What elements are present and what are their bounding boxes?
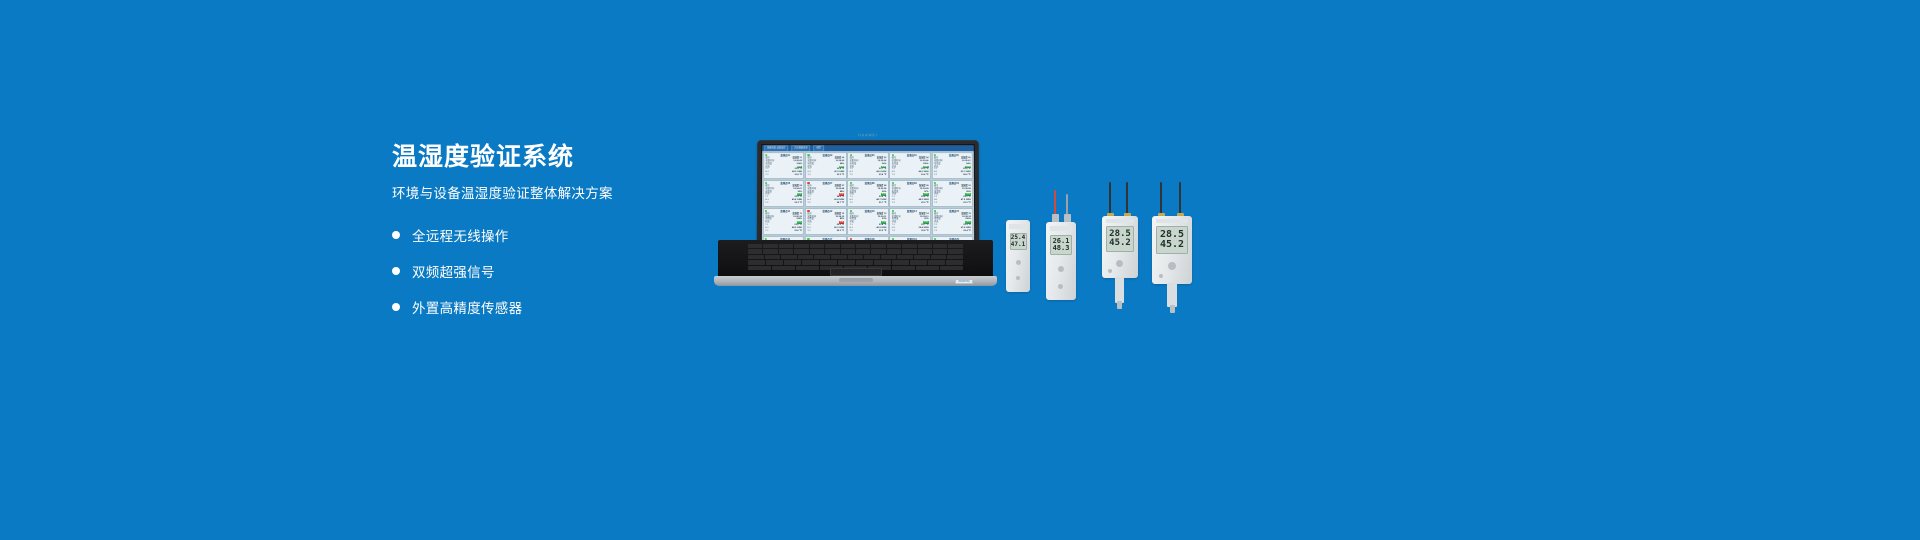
sensor-card-row: T-223.5 ℃ bbox=[807, 174, 844, 177]
device-sensor-probe bbox=[1115, 277, 1124, 303]
laptop-brand-label: HUAWEI bbox=[858, 133, 877, 137]
laptop-trackpad[interactable] bbox=[830, 268, 882, 276]
sensor-card[interactable]: 监测点13编号温湿度 13采集时间12:30:11电池量93%状态正常T-123… bbox=[847, 208, 889, 235]
sensor-card-row: T-223.2 ℃ bbox=[934, 202, 971, 205]
sensor-field-value: 23.8 ℃ bbox=[921, 230, 929, 233]
keyboard-key[interactable] bbox=[948, 244, 962, 248]
sensor-field-value: 29.3 ℃ bbox=[837, 230, 845, 233]
feature-bullet-label: 全远程无线操作 bbox=[412, 225, 509, 245]
lcd-line-humidity: 45.2 bbox=[1109, 239, 1131, 248]
keyboard-key[interactable] bbox=[933, 249, 947, 253]
sensor-field-label: T-2 bbox=[892, 202, 895, 205]
keyboard-key[interactable] bbox=[881, 255, 897, 259]
keyboard-key[interactable] bbox=[810, 249, 824, 253]
sensor-card[interactable]: 监测点06编号温湿度 06采集时间12:30:07电池量92%状态正常T-123… bbox=[763, 180, 805, 207]
keyboard-key[interactable] bbox=[841, 244, 855, 248]
keyboard-key[interactable] bbox=[825, 249, 839, 253]
device-button[interactable] bbox=[1168, 262, 1176, 270]
device-antenna-2 bbox=[1179, 182, 1181, 216]
device-logger-small: 25.4 47.1 bbox=[1006, 220, 1030, 292]
sensor-card-row: T-223.5 ℃ bbox=[850, 230, 887, 233]
device-button-secondary[interactable] bbox=[1058, 284, 1063, 289]
sensor-field-label: T-2 bbox=[807, 230, 810, 233]
keyboard-row bbox=[748, 249, 963, 253]
keyboard-key[interactable] bbox=[892, 266, 915, 270]
keyboard-key[interactable] bbox=[763, 249, 777, 253]
bullet-dot-icon bbox=[392, 231, 400, 239]
sensor-card-row: T-223.4 ℃ bbox=[892, 174, 929, 177]
bullet-dot-icon bbox=[392, 267, 400, 275]
feature-bullet: 双频超强信号 bbox=[392, 259, 722, 284]
keyboard-key[interactable] bbox=[748, 266, 771, 270]
sensor-card[interactable]: 监测点09编号温湿度 09采集时间12:30:09电池量97%状态正常T-123… bbox=[889, 180, 931, 207]
keyboard-key[interactable] bbox=[779, 244, 793, 248]
feature-bullet-label: 双频超强信号 bbox=[412, 261, 495, 281]
device-antenna bbox=[1109, 182, 1111, 216]
sensor-field-label: T-2 bbox=[892, 174, 895, 177]
keyboard-key[interactable] bbox=[748, 255, 764, 259]
sensor-card[interactable]: 监测点03编号温湿度 03采集时间12:30:06电池量96%状态正常T-123… bbox=[847, 152, 889, 179]
keyboard-key[interactable] bbox=[784, 260, 801, 264]
lcd-line-humidity: 47.1 bbox=[1011, 242, 1025, 248]
keyboard-key[interactable] bbox=[892, 260, 909, 264]
sensor-field-value: 23.3 ℃ bbox=[794, 202, 802, 205]
keyboard-key[interactable] bbox=[748, 244, 762, 248]
sensor-card[interactable]: 监测点02编号温湿度 02采集时间12:30:05电池量98%状态正常T-123… bbox=[805, 152, 847, 179]
keyboard-key[interactable] bbox=[902, 244, 916, 248]
keyboard-row bbox=[748, 244, 963, 248]
keyboard-row bbox=[748, 260, 963, 264]
keyboard-key[interactable] bbox=[871, 244, 885, 248]
sensor-field-label: T-2 bbox=[765, 202, 768, 205]
device-antenna-2 bbox=[1126, 182, 1128, 216]
sensor-field-value: 28.7 ℃ bbox=[837, 202, 845, 205]
feature-bullet: 全远程无线操作 bbox=[392, 223, 722, 248]
keyboard-key[interactable] bbox=[748, 249, 762, 253]
sensor-field-value: 23.8 ℃ bbox=[879, 174, 887, 177]
keyboard-key[interactable] bbox=[772, 266, 795, 270]
page-subtitle: 环境与设备温湿度验证整体解决方案 bbox=[392, 185, 722, 204]
device-label-strip bbox=[1050, 226, 1072, 231]
keyboard-key[interactable] bbox=[779, 249, 793, 253]
keyboard-key[interactable] bbox=[928, 260, 945, 264]
sensor-field-value: 24.0 ℃ bbox=[963, 174, 971, 177]
keyboard-key[interactable] bbox=[796, 266, 819, 270]
keyboard-key[interactable] bbox=[841, 249, 855, 253]
keyboard-key[interactable] bbox=[910, 260, 927, 264]
sensor-field-value: 23.5 ℃ bbox=[879, 230, 887, 233]
sensor-card-grid: 监测点01编号温湿度 01采集时间12:30:05电池量100%状态正常T-12… bbox=[762, 151, 975, 251]
device-sensor-probe bbox=[1167, 283, 1177, 307]
device-lcd-display: 25.4 47.1 bbox=[1010, 233, 1027, 250]
keyboard-key[interactable] bbox=[887, 244, 901, 248]
device-handheld-right-wrap: 28.5 45.2 bbox=[1152, 180, 1196, 320]
sensor-field-label: T-2 bbox=[892, 230, 895, 233]
keyboard-key[interactable] bbox=[820, 260, 837, 264]
keyboard-key[interactable] bbox=[856, 260, 873, 264]
laptop-deck-notch bbox=[839, 278, 873, 282]
sensor-field-label: T-2 bbox=[850, 230, 853, 233]
keyboard-key[interactable] bbox=[916, 266, 939, 270]
keyboard-key[interactable] bbox=[798, 255, 814, 259]
feature-bullet-list: 全远程无线操作双频超强信号外置高精度传感器 bbox=[392, 223, 722, 320]
sensor-field-value: 23.4 ℃ bbox=[921, 174, 929, 177]
sensor-field-label: T-2 bbox=[807, 202, 810, 205]
keyboard-key[interactable] bbox=[902, 249, 916, 253]
keyboard-key[interactable] bbox=[948, 249, 962, 253]
keyboard-key[interactable] bbox=[856, 244, 870, 248]
keyboard-key[interactable] bbox=[856, 249, 870, 253]
keyboard-key[interactable] bbox=[766, 260, 783, 264]
laptop-deck-front: PANTUM bbox=[714, 276, 997, 286]
sensor-card-row: T-223.3 ℃ bbox=[765, 202, 802, 205]
device-button[interactable] bbox=[1016, 260, 1021, 265]
sensor-card[interactable]: 监测点15编号温湿度 15采集时间12:30:12电池量100%状态正常T-12… bbox=[932, 208, 974, 235]
keyboard-key[interactable] bbox=[765, 255, 781, 259]
device-button-secondary[interactable] bbox=[1108, 269, 1112, 273]
keyboard-key[interactable] bbox=[933, 244, 947, 248]
keyboard-key[interactable] bbox=[794, 244, 808, 248]
sensor-card[interactable]: 监测点11编号温湿度 11采集时间12:30:10电池量100%状态正常T-12… bbox=[763, 208, 805, 235]
sensor-card[interactable]: 监测点12编号温湿度 12采集时间12:30:10电池量85%状态报警T-129… bbox=[805, 208, 847, 235]
sensor-field-label: T-2 bbox=[765, 230, 768, 233]
sensor-field-label: T-2 bbox=[850, 202, 853, 205]
lcd-line-humidity: 48.3 bbox=[1053, 245, 1070, 252]
keyboard-key[interactable] bbox=[864, 255, 880, 259]
sensor-field-label: T-2 bbox=[765, 174, 768, 177]
keyboard-key[interactable] bbox=[781, 255, 797, 259]
keyboard-row bbox=[748, 255, 963, 259]
sensor-field-label: T-2 bbox=[934, 202, 937, 205]
keyboard-key[interactable] bbox=[931, 255, 947, 259]
sensor-card[interactable]: 监测点07编号温湿度 07采集时间12:30:08电池量88%状态报警T-128… bbox=[805, 180, 847, 207]
device-button[interactable] bbox=[1058, 266, 1064, 272]
sensor-card-row: T-223.8 ℃ bbox=[850, 174, 887, 177]
sensor-card-row: T-224.0 ℃ bbox=[934, 174, 971, 177]
device-label-strip bbox=[1009, 224, 1027, 229]
keyboard-key[interactable] bbox=[946, 260, 963, 264]
keyboard-key[interactable] bbox=[748, 260, 765, 264]
keyboard-key[interactable] bbox=[940, 266, 963, 270]
device-probe-cable bbox=[1054, 190, 1056, 216]
keyboard-key[interactable] bbox=[897, 255, 913, 259]
device-group: 25.4 47.1 26.1 48.3 bbox=[1000, 180, 1230, 320]
sensor-card[interactable]: 监测点05编号温湿度 05采集时间12:30:07电池量94%状态正常T-123… bbox=[931, 152, 973, 179]
device-button[interactable] bbox=[1116, 260, 1123, 267]
keyboard-key[interactable] bbox=[918, 249, 932, 253]
laptop-screen: 数据采集·设备监控历史数据查询报警 监测点01编号温湿度 01采集时间12:30… bbox=[761, 144, 976, 251]
device-label-strip bbox=[1106, 219, 1134, 223]
laptop-base bbox=[718, 240, 993, 278]
device-logger-probe-wrap: 26.1 48.3 bbox=[1046, 190, 1084, 300]
sensor-card-row: T-223.6 ℃ bbox=[765, 230, 802, 233]
sensor-field-value: 23.5 ℃ bbox=[837, 174, 845, 177]
keyboard-key[interactable] bbox=[871, 249, 885, 253]
keyboard-key[interactable] bbox=[763, 244, 777, 248]
sensor-field-value: 23.6 ℃ bbox=[794, 230, 802, 233]
sensor-card-row: T-223.8 ℃ bbox=[892, 230, 929, 233]
bullet-dot-icon bbox=[392, 303, 400, 311]
keyboard-key[interactable] bbox=[810, 244, 824, 248]
page-title: 温湿度验证系统 bbox=[392, 142, 722, 172]
device-handheld-right: 28.5 45.2 bbox=[1152, 216, 1192, 284]
feature-bullet: 外置高精度传感器 bbox=[392, 295, 722, 320]
sensor-field-value: 23.6 ℃ bbox=[795, 174, 803, 177]
sensor-field-label: T-2 bbox=[850, 174, 853, 177]
sensor-card[interactable]: 监测点14编号温湿度 14采集时间12:30:11电池量91%状态正常T-123… bbox=[889, 208, 931, 235]
device-label-strip bbox=[1156, 219, 1188, 223]
device-lcd-display: 26.1 48.3 bbox=[1050, 235, 1072, 255]
device-antenna bbox=[1160, 182, 1162, 216]
device-lcd-display: 28.5 45.2 bbox=[1106, 226, 1134, 252]
sensor-card[interactable]: 监测点04编号温湿度 04采集时间12:30:06电池量100%状态正常T-12… bbox=[889, 152, 931, 179]
sensor-card-row: T-223.6 ℃ bbox=[765, 174, 802, 177]
sensor-card-row: T-223.9 ℃ bbox=[892, 202, 929, 205]
device-sensor-probe-tip bbox=[1117, 301, 1122, 309]
feature-bullet-label: 外置高精度传感器 bbox=[412, 297, 522, 317]
sensor-card-row: T-223.7 ℃ bbox=[850, 202, 887, 205]
device-handheld-left-wrap: 28.5 45.2 bbox=[1102, 180, 1142, 320]
keyboard-key[interactable] bbox=[825, 244, 839, 248]
sensor-field-value: 23.9 ℃ bbox=[921, 202, 929, 205]
keyboard-key[interactable] bbox=[831, 255, 847, 259]
keyboard-key[interactable] bbox=[814, 255, 830, 259]
keyboard-key[interactable] bbox=[918, 244, 932, 248]
keyboard-key[interactable] bbox=[947, 255, 963, 259]
sensor-field-label: T-2 bbox=[807, 174, 810, 177]
sensor-field-value: 23.4 ℃ bbox=[963, 230, 971, 233]
device-probe-cable-2 bbox=[1066, 194, 1068, 216]
keyboard-key[interactable] bbox=[838, 260, 855, 264]
sensor-card-row: T-228.7 ℃ bbox=[807, 202, 844, 205]
device-lcd-display: 28.5 45.2 bbox=[1156, 226, 1188, 254]
device-sensor-probe-tip bbox=[1170, 305, 1175, 313]
laptop-illustration: 数据采集·设备监控历史数据查询报警 监测点01编号温湿度 01采集时间12:30… bbox=[718, 140, 993, 300]
device-logger-probe: 26.1 48.3 bbox=[1046, 222, 1076, 300]
keyboard-key[interactable] bbox=[887, 249, 901, 253]
device-button-secondary[interactable] bbox=[1016, 276, 1020, 280]
hero-banner: 温湿度验证系统 环境与设备温湿度验证整体解决方案 全远程无线操作双频超强信号外置… bbox=[0, 0, 1920, 540]
keyboard-key[interactable] bbox=[914, 255, 930, 259]
sensor-field-label: T-2 bbox=[934, 174, 937, 177]
sensor-card[interactable]: 监测点10编号温湿度 10采集时间12:30:09电池量95%状态正常T-123… bbox=[932, 180, 974, 207]
sensor-card[interactable]: 监测点01编号温湿度 01采集时间12:30:05电池量100%状态正常T-12… bbox=[763, 152, 805, 179]
sensor-card[interactable]: 监测点08编号温湿度 08采集时间12:30:08电池量99%状态正常T-123… bbox=[847, 180, 889, 207]
keyboard-key[interactable] bbox=[874, 260, 891, 264]
keyboard-key[interactable] bbox=[802, 260, 819, 264]
sensor-field-value: 23.7 ℃ bbox=[879, 202, 887, 205]
sensor-field-label: T-2 bbox=[934, 230, 937, 233]
lcd-line-humidity: 45.2 bbox=[1160, 240, 1184, 251]
keyboard-key[interactable] bbox=[794, 249, 808, 253]
sensor-card-row: T-229.3 ℃ bbox=[807, 230, 844, 233]
device-button-secondary[interactable] bbox=[1159, 274, 1163, 278]
sensor-field-value: 23.2 ℃ bbox=[963, 202, 971, 205]
sensor-card-row: T-223.4 ℃ bbox=[934, 230, 971, 233]
device-handheld-left: 28.5 45.2 bbox=[1102, 216, 1138, 278]
laptop-sticker: PANTUM bbox=[955, 279, 973, 284]
laptop-keyboard[interactable] bbox=[748, 244, 963, 270]
keyboard-key[interactable] bbox=[848, 255, 864, 259]
hero-copy-block: 温湿度验证系统 环境与设备温湿度验证整体解决方案 全远程无线操作双频超强信号外置… bbox=[392, 142, 722, 331]
